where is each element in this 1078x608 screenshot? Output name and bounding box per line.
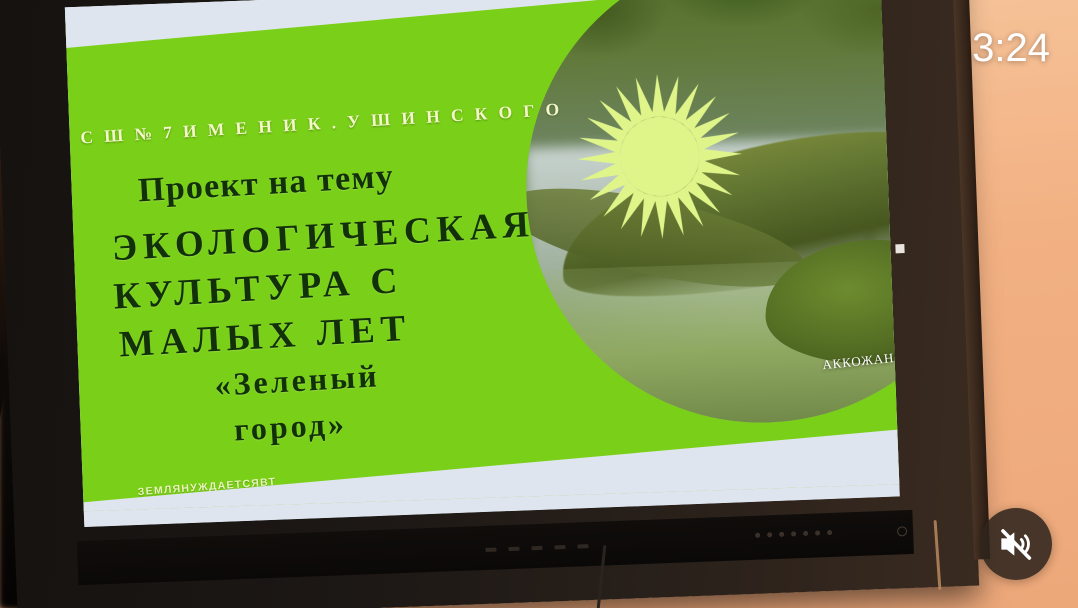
speaker-muted-icon: [996, 524, 1036, 564]
slide-title-line-6: город»: [233, 405, 348, 448]
tv-button-1[interactable]: [485, 548, 496, 552]
presentation-slide: АККОЖАНОВА А.К.: [65, 0, 900, 512]
slide-title-line-1: Проект на тему: [137, 158, 395, 211]
tv-button-2[interactable]: [508, 547, 519, 551]
slide-title-line-2: ЭКОЛОГИЧЕСКАЯ: [111, 203, 536, 270]
television: АККОЖАНОВА А.К.: [0, 0, 979, 608]
tv-button-3[interactable]: [531, 546, 542, 550]
tv-sensor-led: [895, 244, 904, 253]
tv-button-5[interactable]: [577, 544, 588, 548]
tv-button-4[interactable]: [554, 545, 565, 549]
sunburst-icon: [575, 71, 745, 241]
tv-screen: АККОЖАНОВА А.К.: [65, 0, 900, 527]
mute-toggle-button[interactable]: [980, 508, 1052, 580]
school-name: С Ш № 7 И М Е Н И К . У Ш И Н С К О Г О: [80, 99, 563, 149]
presentation-canvas: АККОЖАНОВА А.К.: [65, 0, 900, 527]
recording-timer: 3:24: [972, 26, 1050, 71]
slide-title-line-5: «Зеленый: [214, 357, 381, 403]
screenshot-root: АККОЖАНОВА А.К.: [0, 0, 1078, 608]
